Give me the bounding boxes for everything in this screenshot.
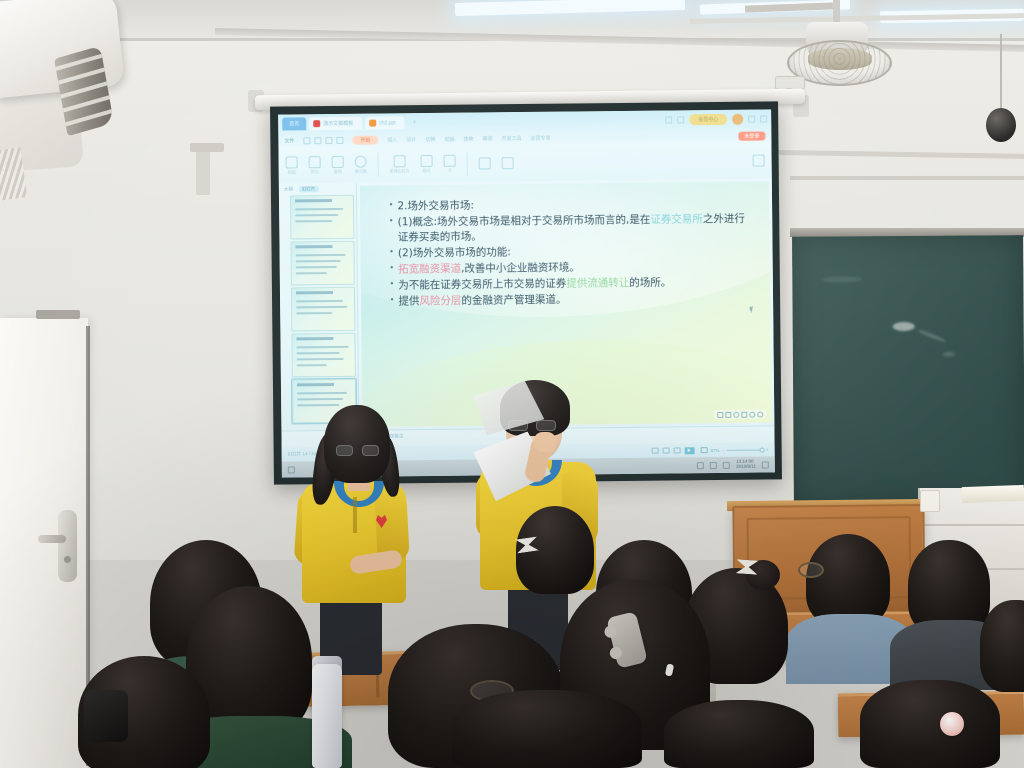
paste-icon [286,156,298,168]
sorter-view-icon[interactable] [662,448,669,454]
bullet-text: 提供 [398,295,419,307]
ribbon-font-tools[interactable] [479,157,491,169]
fit-slide-icon[interactable] [700,447,707,453]
zoom-in-button[interactable]: + [766,447,769,452]
quick-access-toolbar[interactable] [303,136,343,143]
tab-transition[interactable]: 切换 [425,135,435,142]
ribbon-new-slide[interactable]: 新建幻灯片 [390,155,410,174]
audience-head [806,534,890,626]
badge-pin [940,712,964,736]
door-keyhole-icon [64,556,71,563]
network-icon[interactable] [697,462,704,469]
slide-thumbnail[interactable]: 10 [290,195,354,240]
slide-thumbnail[interactable]: 12 [291,287,355,332]
slideshow-icon[interactable] [684,447,694,454]
presenter-left-placket [353,497,357,533]
sidebar-toggle-icon[interactable] [665,116,672,123]
blackboard [792,235,1024,509]
document-tab-2-label: ch2.ppt [379,120,395,126]
zoom-slider-knob[interactable] [760,447,765,452]
slide-floating-toolbar[interactable] [714,409,766,419]
bullet-text: (2)场外交易市场的功能: [398,246,511,259]
new-tab-button[interactable]: + [408,119,422,126]
redo-icon [336,136,343,143]
wall-bracket [196,145,210,195]
sound-icon[interactable] [733,411,739,417]
new-slide-icon [394,155,406,167]
bullet-highlight: 拓宽融资渠道 [398,263,461,276]
water-bottle[interactable] [312,664,342,768]
close-icon[interactable] [760,115,767,122]
copy-icon [332,155,344,167]
section-icon [444,154,456,166]
tab-developer[interactable]: 开发工具 [501,135,521,142]
zoom-out-button[interactable]: - [722,447,724,452]
font-icon [479,157,491,169]
bullet-highlight: 证券交易所 [650,214,703,227]
search-icon [753,154,765,166]
bullet-text-tail: 的金融资产管理渠道。 [461,293,566,306]
ribbon-paragraph-tools[interactable] [502,157,514,169]
undo-icon [325,137,332,144]
scissors-icon [309,156,321,168]
ribbon-format-painter-label: 格式刷 [355,168,367,174]
ribbon-layout-label: 版式 [423,167,431,173]
ribbon-paste-label: 粘贴 [288,169,296,175]
tab-slideshow[interactable]: 放映 [463,135,473,142]
paragraph-icon [502,157,514,169]
pen-icon[interactable] [741,411,747,417]
ribbon-copy-label: 复制 [334,168,342,174]
menu-button[interactable]: 文件 [284,137,294,144]
ribbon-new-slide-label: 新建幻灯片 [390,168,410,174]
taskbar-clock[interactable]: 13:14:00 2019/9/11 [736,460,756,470]
bullet-text: (1)概念:场外交易市场是相对于交易所市场而言的,是在 [398,214,651,229]
zoom-level: 87% [710,447,719,452]
volume-icon[interactable] [710,462,717,469]
reading-view-icon[interactable] [673,447,680,453]
bullet-marker: • [389,200,394,215]
help-icon[interactable] [677,116,684,123]
audience-head [860,680,1000,768]
tab-outline[interactable]: 大纲 [284,186,293,192]
pull-cord[interactable] [1000,34,1002,112]
ribbon-format-painter[interactable]: 格式刷 [355,155,367,174]
bullet-marker: • [389,247,394,262]
thumbnail-pane-tabs: 大纲 幻灯片 [281,185,354,194]
audience-head [452,690,642,768]
bullet-text-tail: ,改善中小企业融资环境。 [461,262,580,275]
ribbon-copy[interactable]: 复制 [332,155,344,174]
bullet-text: 为不能在证券交易所上市交易的证券 [398,278,566,292]
pull-cord-weight[interactable] [986,108,1016,142]
presenter-left-hair [324,405,390,483]
save-icon [303,137,310,144]
minimize-icon[interactable] [748,116,755,123]
ribbon-layout[interactable]: 版式 [421,154,433,173]
format-painter-icon [355,155,367,167]
document-tab-1-label: 演示文稿模板 [323,120,353,127]
tab-start[interactable]: 开始 [352,135,378,144]
gear-icon[interactable] [757,411,763,417]
bullet-marker: • [389,216,394,246]
glasses-icon [798,562,824,578]
slide-bullet: • (1)概念:场外交易市场是相对于交易所市场而言的,是在证券交易所之外进行证券… [389,212,753,246]
ribbon-section[interactable]: 节 [444,154,456,173]
bullet-marker: • [390,294,395,309]
ribbon-cut[interactable]: 剪切 [309,156,321,175]
slide-thumbnail[interactable]: 11 [290,241,354,286]
ribbon-section-label: 节 [448,167,452,173]
ribbon-paste[interactable]: 粘贴 [286,156,298,175]
start-button-icon[interactable] [288,466,295,473]
handheld-device[interactable] [84,690,128,742]
audience-head [664,700,814,768]
presenter-right-hand [534,432,556,452]
slide-body-text[interactable]: • 2.场外交易市场: • (1)概念:场外交易市场是相对于交易所市场而言的,是… [389,196,754,310]
clock-date: 2019/9/11 [736,465,756,470]
wps-doc-icon [313,120,320,127]
tab-insert[interactable]: 插入 [387,136,397,143]
bullet-highlight: 提供流通转让 [566,277,629,290]
tab-animation[interactable]: 动画 [444,135,454,142]
wall-trim-right [790,176,1024,180]
upgrade-button[interactable]: 会员中心 [689,114,727,125]
ribbon-toolbar: 粘贴 剪切 复制 格式刷 [278,142,771,183]
show-desktop-icon[interactable] [762,461,769,468]
ppt-file-icon [369,120,376,127]
login-button[interactable]: 未登录 [738,131,765,140]
tab-design[interactable]: 设计 [406,136,416,143]
person-icon[interactable] [749,411,755,417]
bullet-highlight: 风险分层 [419,295,461,307]
tab-slides[interactable]: 幻灯片 [299,186,319,192]
bullet-text-tail: 的场所。 [629,276,671,288]
glasses-icon [336,445,380,456]
tab-member[interactable]: 会员专享 [530,134,550,141]
ribbon-cut-label: 剪切 [311,169,319,175]
door-frame-top [36,310,80,319]
ribbon-find[interactable] [753,154,765,166]
bullet-text: 2.场外交易市场: [397,200,474,213]
door-handle-icon[interactable] [38,535,66,543]
wall-bracket-top [190,143,224,152]
layout-icon [421,154,433,166]
bullet-marker: • [389,262,394,277]
avatar[interactable] [732,114,743,125]
comment-icon[interactable] [725,411,731,417]
classroom-scene: 首页 演示文稿模板 ch2.ppt + 会员中心 [0,0,1024,768]
mouse-cursor [749,306,755,313]
tab-home[interactable]: 首页 [282,117,306,130]
normal-view-icon[interactable] [651,448,658,454]
document-tab-2[interactable]: ch2.ppt [365,116,405,129]
check-icon[interactable] [717,411,723,417]
papers-stack [962,485,1024,503]
door-lock-plate [58,510,77,582]
slide-bullet: • 提供风险分层的金融资产管理渠道。 [390,291,754,310]
print-icon [314,137,321,144]
zoom-slider[interactable] [727,449,763,450]
microphone-box[interactable] [920,490,940,512]
zoom-control[interactable]: 87% - + [700,446,768,453]
bullet-marker: • [389,278,394,293]
tab-review[interactable]: 审阅 [482,135,492,142]
input-method-icon[interactable] [723,461,730,468]
slide-thumbnail-pane[interactable]: 大纲 幻灯片 10 11 [279,183,360,431]
slide-thumbnail[interactable]: 13 [291,333,355,378]
document-tab-1[interactable]: 演示文稿模板 [309,117,362,131]
audience-head [980,600,1024,692]
